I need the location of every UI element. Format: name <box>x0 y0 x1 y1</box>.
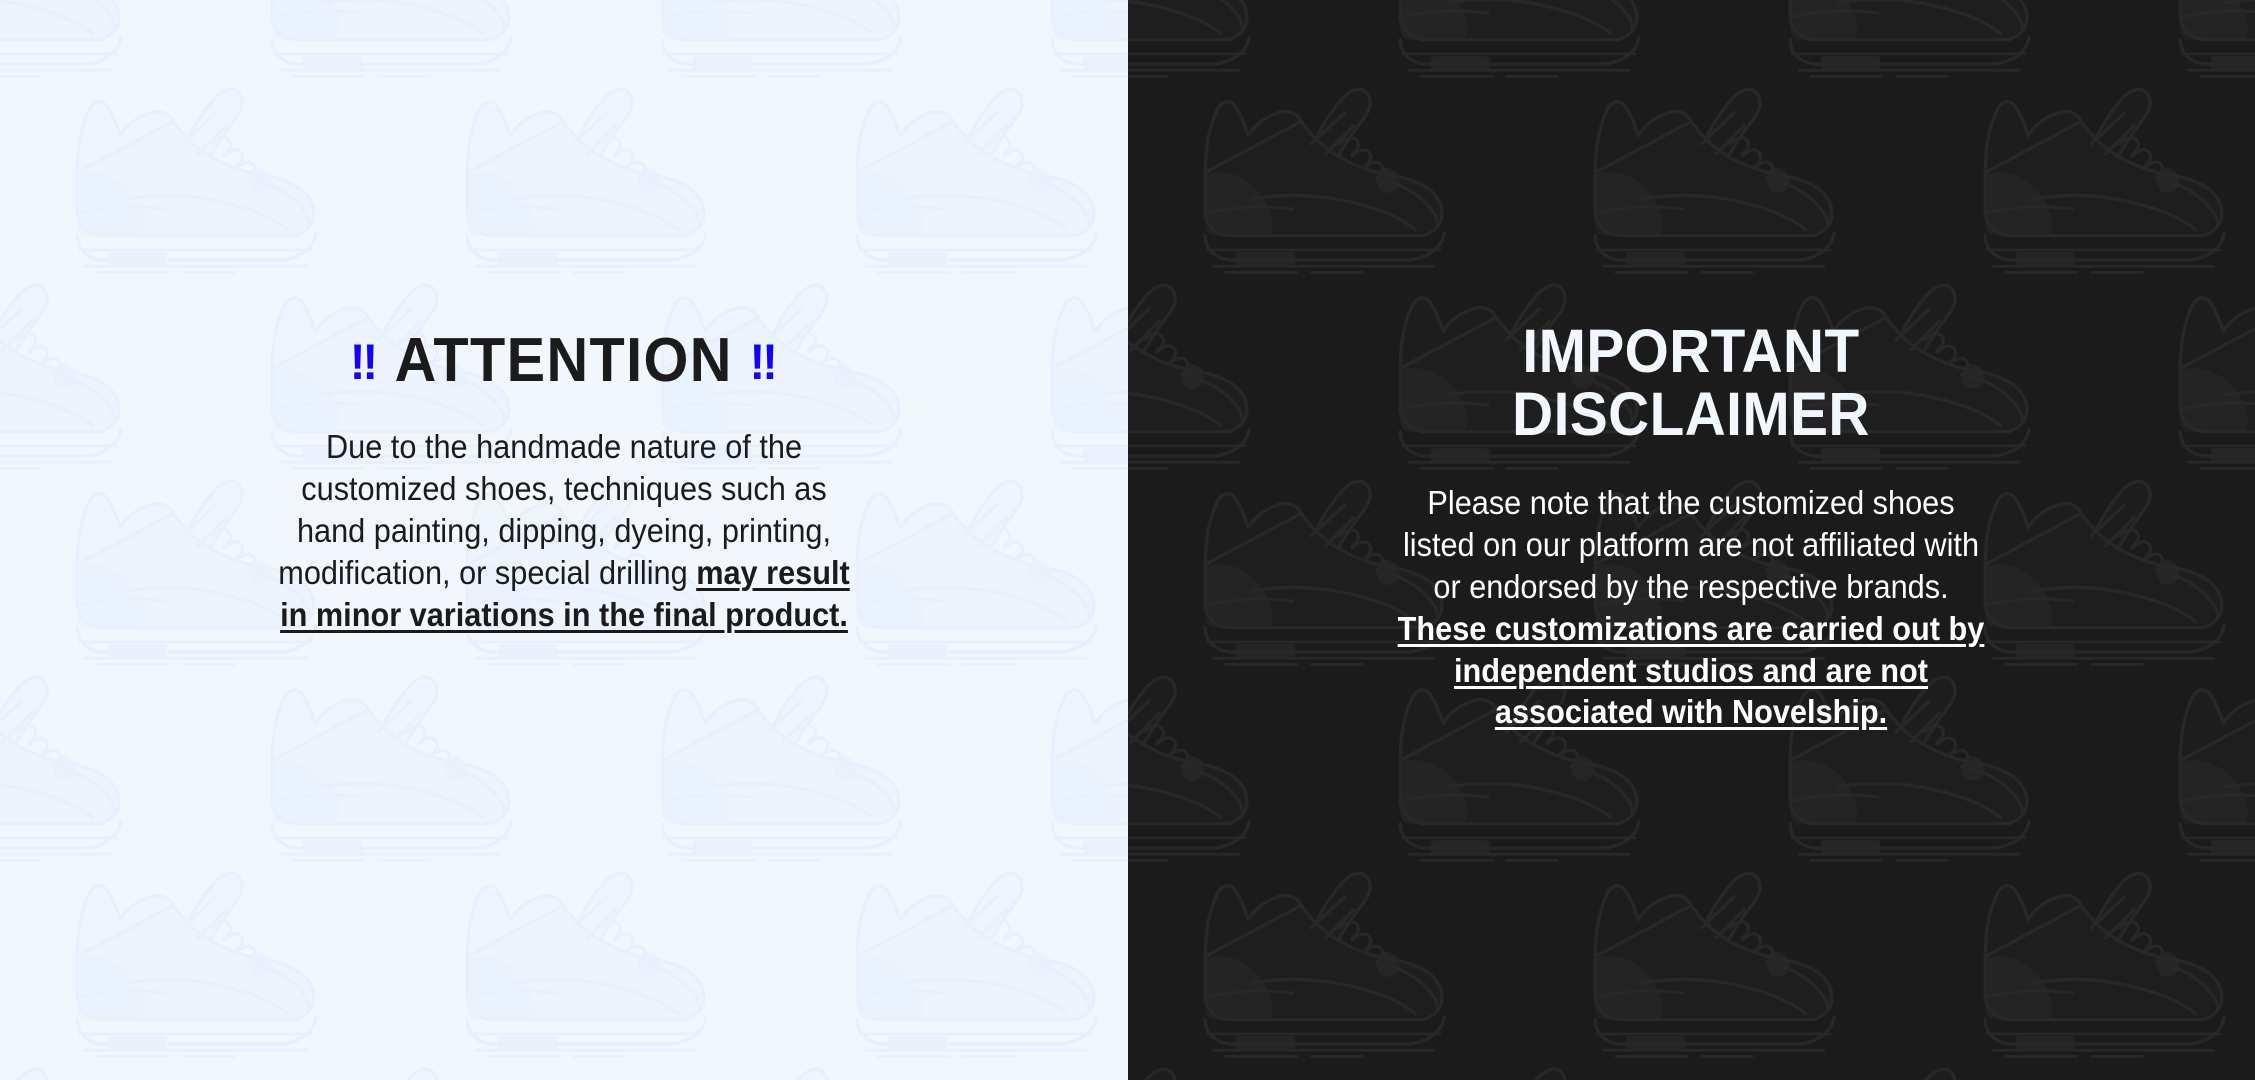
attention-heading: ‼ATTENTION‼ <box>95 330 1032 392</box>
disclaimer-heading-line1: IMPORTANT <box>1523 317 1860 385</box>
disclaimer-body-emphasis: These customizations are carried out by … <box>1398 610 1985 731</box>
disclaimer-heading: IMPORTANTDISCLAIMER <box>1394 320 1989 447</box>
attention-panel: ‼ATTENTION‼ Due to the handmade nature o… <box>0 0 1128 1080</box>
attention-heading-text: ATTENTION <box>378 326 750 395</box>
double-exclamation-icon-right: ‼ <box>750 334 778 390</box>
disclaimer-content: IMPORTANTDISCLAIMER Please note that the… <box>1128 0 2255 733</box>
disclaimer-banner: ‼ATTENTION‼ Due to the handmade nature o… <box>0 0 2255 1080</box>
disclaimer-panel: IMPORTANTDISCLAIMER Please note that the… <box>1128 0 2255 1080</box>
disclaimer-body-normal: Please note that the customized shoes li… <box>1403 484 1979 605</box>
disclaimer-heading-line2: DISCLAIMER <box>1512 380 1870 448</box>
double-exclamation-icon-left: ‼ <box>350 334 378 390</box>
disclaimer-body: Please note that the customized shoes li… <box>1394 482 1989 733</box>
attention-body: Due to the handmade nature of the custom… <box>266 426 861 636</box>
attention-content: ‼ATTENTION‼ Due to the handmade nature o… <box>0 0 1128 636</box>
